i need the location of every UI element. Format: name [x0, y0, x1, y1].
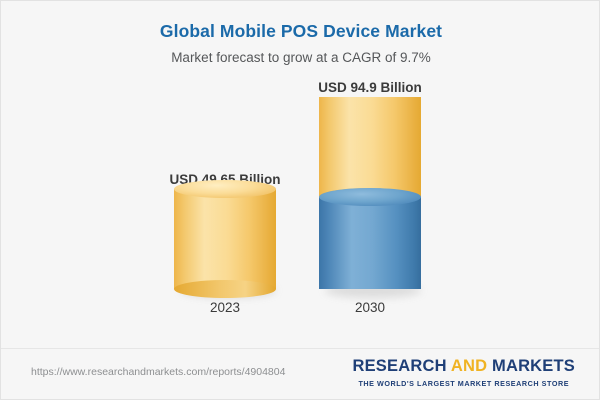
logo-text-research: RESEARCH	[352, 357, 450, 375]
cylinder-body	[174, 189, 276, 289]
x-axis-tick-2030: 2030	[283, 300, 457, 315]
logo-text-markets: MARKETS	[487, 357, 575, 375]
cylinder-body	[319, 97, 421, 197]
source-url[interactable]: https://www.researchandmarkets.com/repor…	[31, 366, 285, 378]
logo-wordmark: RESEARCH AND MARKETS	[352, 357, 575, 376]
bar-cylinder-2030	[319, 97, 421, 289]
infographic-container: Global Mobile POS Device Market Market f…	[0, 0, 600, 400]
bar-value-label-2030: USD 94.9 Billion	[283, 80, 457, 95]
cylinder-top-cap	[319, 188, 421, 206]
logo-tagline: THE WORLD'S LARGEST MARKET RESEARCH STOR…	[352, 379, 575, 388]
bar-segment-gold-2023	[174, 189, 276, 289]
research-and-markets-logo[interactable]: RESEARCH AND MARKETS THE WORLD'S LARGEST…	[352, 357, 575, 388]
cylinder-top-cap	[174, 180, 276, 198]
bar-segment-blue-2030	[319, 197, 421, 289]
logo-text-and: AND	[451, 357, 487, 375]
bar-cylinder-2023	[174, 189, 276, 289]
chart-plot-area: USD 49.65 Billion 2023 USD 94.9 Billion	[1, 1, 600, 349]
footer: https://www.researchandmarkets.com/repor…	[1, 348, 599, 399]
cylinder-bottom-cap	[174, 280, 276, 298]
bar-segment-gold-2030	[319, 97, 421, 197]
cylinder-body	[319, 197, 421, 289]
